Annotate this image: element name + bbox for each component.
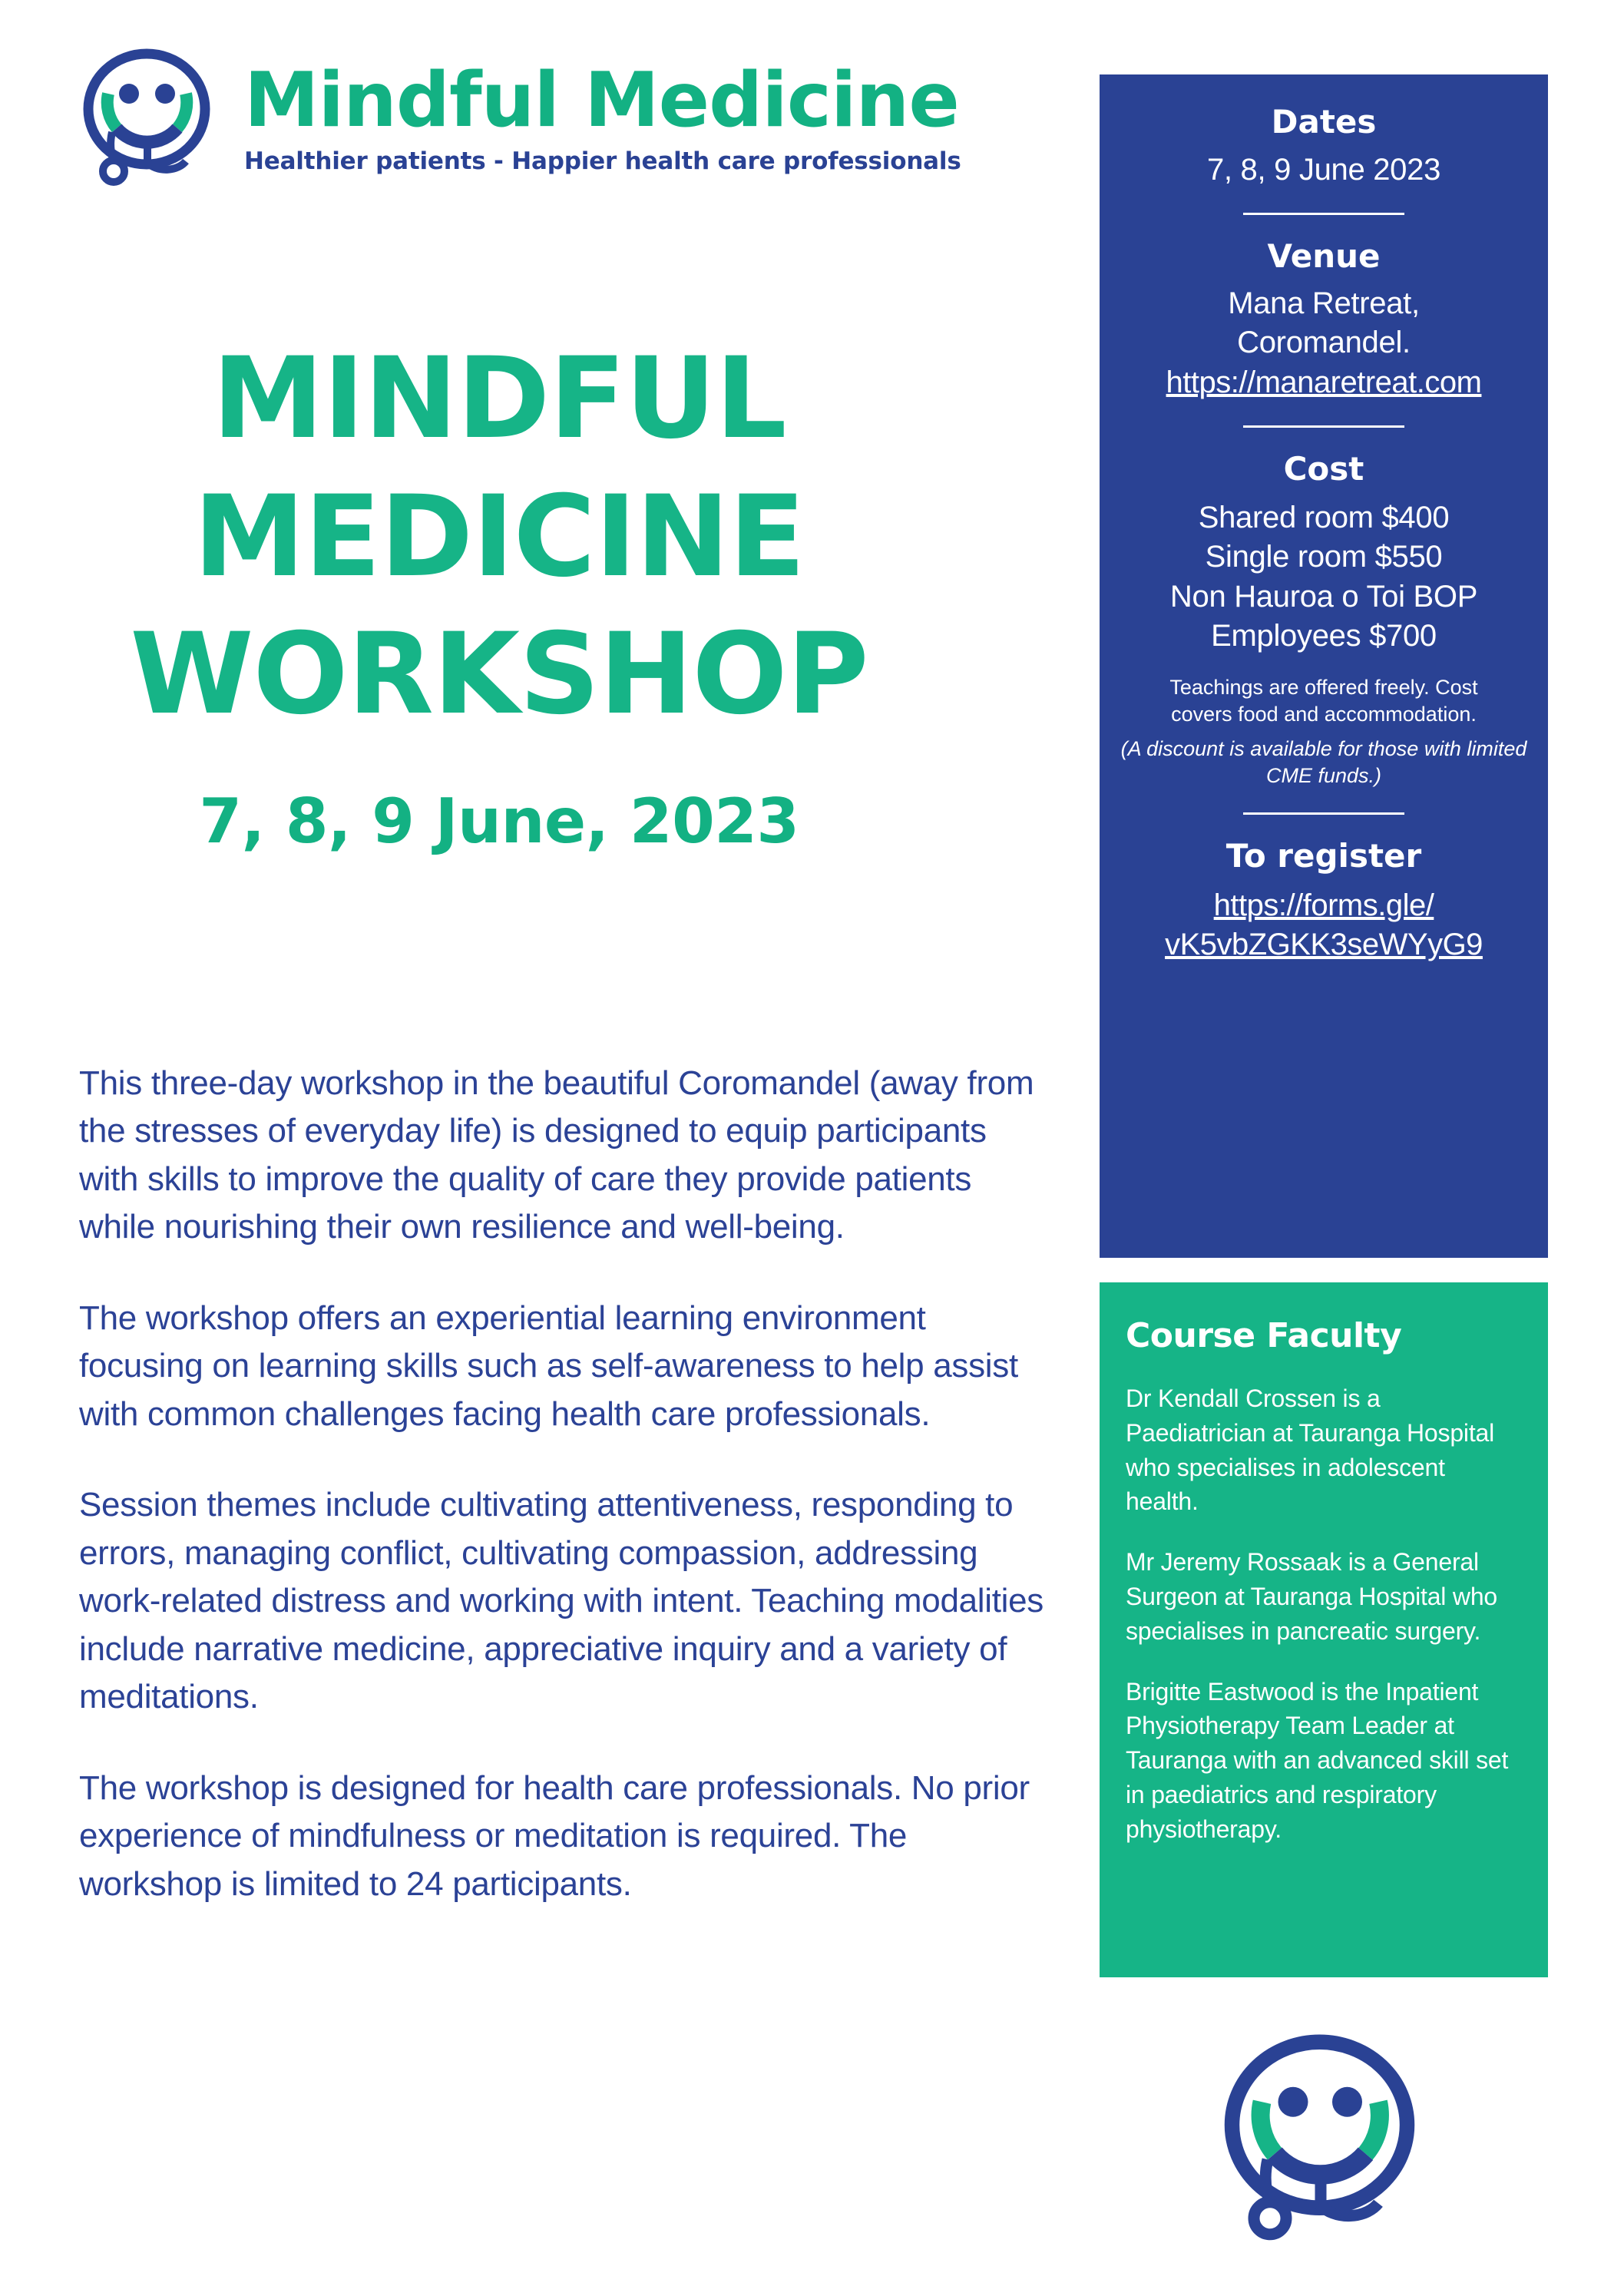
cost-item: Employees $700 xyxy=(1110,617,1537,656)
body-copy: This three-day workshop in the beautiful… xyxy=(79,1060,1050,1908)
cost-discount-note: (A discount is available for those with … xyxy=(1110,736,1537,789)
register-link-line-2: vK5vbZGKK3seWYyG9 xyxy=(1165,928,1483,961)
venue-line-1: Mana Retreat, xyxy=(1110,284,1537,323)
smiley-stethoscope-logo-icon xyxy=(1210,2238,1440,2251)
venue-heading: Venue xyxy=(1110,237,1537,277)
body-paragraph: The workshop offers an experiential lear… xyxy=(79,1295,1050,1438)
cost-item: Shared room $400 xyxy=(1110,498,1537,538)
faculty-member-bio: Brigitte Eastwood is the Inpatient Physi… xyxy=(1126,1675,1522,1847)
page-title: MINDFUL MEDICINE WORKSHOP xyxy=(0,330,1067,744)
venue-line-2: Coromandel. xyxy=(1110,323,1537,362)
cost-note: Teachings are offered freely. Cost cover… xyxy=(1110,674,1537,728)
body-paragraph: Session themes include cultivating atten… xyxy=(79,1481,1050,1721)
cost-item: Single room $550 xyxy=(1110,538,1537,577)
faculty-member-bio: Dr Kendall Crossen is a Paediatrician at… xyxy=(1126,1381,1522,1519)
divider xyxy=(1243,213,1404,215)
poster-headline-block: MINDFUL MEDICINE WORKSHOP 7, 8, 9 June, … xyxy=(0,330,1067,857)
body-paragraph: This three-day workshop in the beautiful… xyxy=(79,1060,1050,1252)
title-line-3: WORKSHOP xyxy=(130,609,868,739)
brand-name: Mindful Medicine xyxy=(244,63,961,138)
body-paragraph: The workshop is designed for health care… xyxy=(79,1765,1050,1908)
register-form-link[interactable]: https://forms.gle/vK5vbZGKK3seWYyG9 xyxy=(1110,886,1537,964)
brand-header: Mindful Medicine Healthier patients - Ha… xyxy=(74,46,961,192)
dates-value: 7, 8, 9 June 2023 xyxy=(1110,151,1537,190)
footer-brand-mark xyxy=(1210,2026,1440,2252)
cost-heading: Cost xyxy=(1110,449,1537,490)
poster-subtitle: 7, 8, 9 June, 2023 xyxy=(0,786,1067,857)
title-line-2: MEDICINE xyxy=(193,471,805,602)
divider xyxy=(1243,425,1404,428)
event-info-panel: Dates 7, 8, 9 June 2023 Venue Mana Retre… xyxy=(1100,74,1548,1258)
title-line-1: MINDFUL xyxy=(212,333,786,464)
faculty-member-bio: Mr Jeremy Rossaak is a General Surgeon a… xyxy=(1126,1545,1522,1648)
smiley-stethoscope-logo-icon xyxy=(74,46,227,192)
faculty-heading: Course Faculty xyxy=(1126,1316,1522,1355)
course-faculty-panel: Course Faculty Dr Kendall Crossen is a P… xyxy=(1100,1282,1548,1977)
brand-tagline: Healthier patients - Happier health care… xyxy=(244,147,961,175)
register-link-line-1: https://forms.gle/ xyxy=(1214,888,1434,922)
cost-item: Non Hauroa o Toi BOP xyxy=(1110,577,1537,617)
dates-heading: Dates xyxy=(1110,102,1537,143)
venue-website-link[interactable]: https://manaretreat.com xyxy=(1110,363,1537,402)
register-heading: To register xyxy=(1110,836,1537,877)
divider xyxy=(1243,812,1404,815)
cost-list: Shared room $400 Single room $550 Non Ha… xyxy=(1110,498,1537,656)
